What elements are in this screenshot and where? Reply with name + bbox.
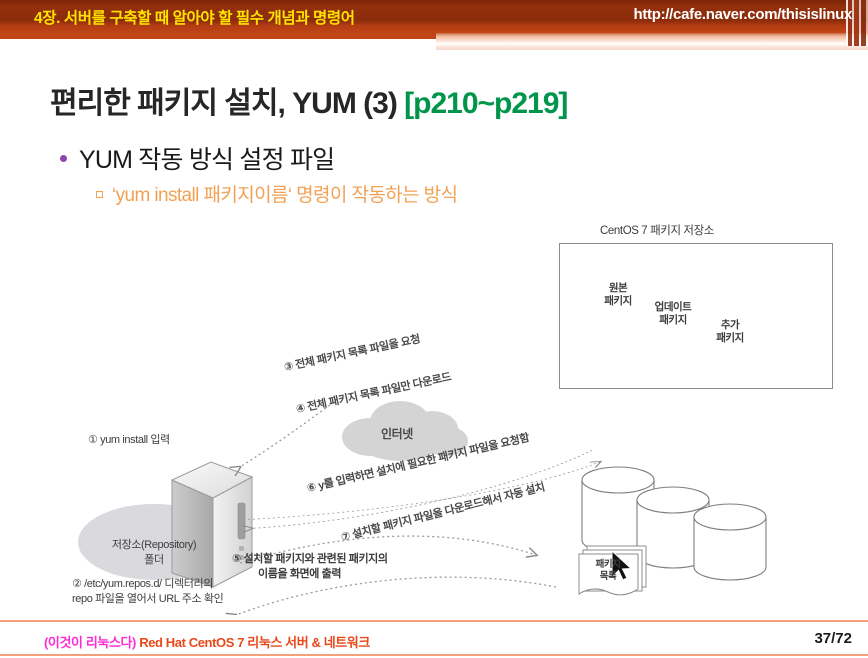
page-title-main: 편리한 패키지 설치, YUM (3): [50, 87, 404, 120]
arrow-step4: [236, 577, 556, 615]
cylinder-extra-package: [694, 504, 766, 580]
header-underline-glow: [436, 33, 868, 50]
package-list-label: 패키지 목록: [586, 559, 630, 583]
footer-divider-bottom: [0, 654, 868, 656]
step-2-label: ② /etc/yum.repos.d/ 디렉터리의 repo 파일을 열어서 U…: [72, 577, 223, 607]
footer-divider-top: [0, 620, 868, 622]
cylinder-label-update: 업데이트 패키지: [643, 301, 703, 327]
bullet-level1-label: YUM 작동 방식 설정 파일: [79, 146, 334, 174]
footer-series-label: (이것이 리눅스다): [44, 635, 136, 650]
footer-book-title: (이것이 리눅스다) Red Hat CentOS 7 리눅스 서버 & 네트워…: [44, 632, 370, 651]
bullet-item-level2: ‘yum install 패키지이름‘ 명령이 작동하는 방식: [96, 180, 457, 207]
internet-cloud-label: 인터넷: [381, 425, 413, 442]
page-title: 편리한 패키지 설치, YUM (3) [p210~p219]: [50, 78, 567, 122]
bullet-item-level1: YUM 작동 방식 설정 파일: [60, 140, 334, 176]
step-5-label: ⑤ 설치할 패키지와 관련된 패키지의 이름을 화면에 출력: [232, 552, 388, 582]
bullet-square-icon: [96, 191, 103, 198]
repository-folder-label: 저장소(Repository) 폴더: [84, 538, 224, 568]
footer-name-label: Red Hat CentOS 7 리눅스 서버 & 네트워크: [136, 635, 370, 650]
page-title-pages: [p210~p219]: [404, 87, 567, 120]
step-1-label: ① yum install 입력: [88, 431, 170, 447]
header-underline-left: [0, 33, 436, 39]
cylinder-label-original: 원본 패키지: [588, 282, 648, 308]
cylinder-label-extra: 추가 패키지: [700, 319, 760, 345]
arrow-to-tower: [240, 405, 330, 467]
site-url-link[interactable]: http://cafe.naver.com/thisislinux: [634, 6, 853, 23]
bullet-dot-icon: [60, 155, 67, 162]
repository-title-label: CentOS 7 패키지 저장소: [600, 222, 714, 238]
page-number: 37/72: [814, 630, 852, 647]
bullet-level2-label: ‘yum install 패키지이름‘ 명령이 작동하는 방식: [112, 185, 457, 206]
chapter-title: 4장. 서버를 구축할 때 알아야 할 필수 개념과 명령어: [34, 6, 355, 28]
